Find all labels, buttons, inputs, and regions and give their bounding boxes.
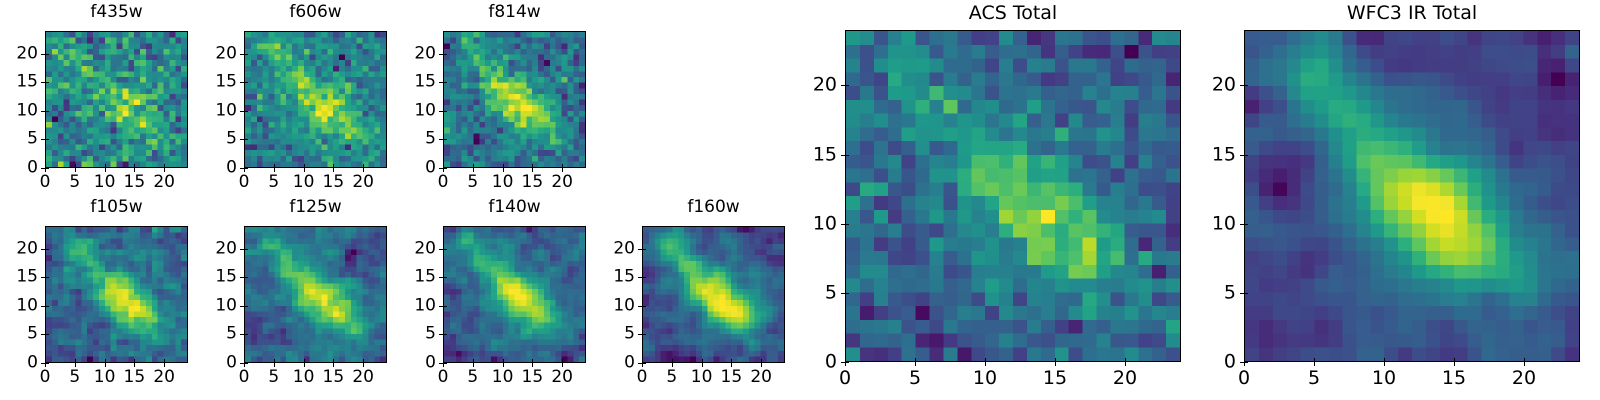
y-tick-mark-inner — [444, 168, 447, 169]
x-tick-label: 5 — [268, 174, 279, 191]
x-tick-label: 15 — [323, 174, 345, 191]
panel-title-acs-total: ACS Total — [845, 4, 1181, 23]
x-tick-mark-inner — [1454, 358, 1455, 361]
x-tick-mark-inner — [333, 359, 334, 362]
panel-f435w: f435w 0510152005101520 — [45, 0, 188, 190]
x-tick-label: 15 — [522, 369, 544, 386]
x-tick-mark-inner — [244, 359, 245, 362]
y-tick-mark-inner — [245, 334, 248, 335]
y-tick-mark — [240, 54, 244, 55]
x-tick-mark-inner — [304, 164, 305, 167]
y-tick-mark-inner — [444, 111, 447, 112]
x-tick-label: 10 — [973, 369, 997, 388]
x-tick-label: 5 — [69, 369, 80, 386]
x-tick-mark — [985, 362, 986, 366]
y-tick-mark-inner — [846, 155, 849, 156]
y-tick-mark — [439, 82, 443, 83]
figure-canvas: f435w 0510152005101520 f606w 05101520051… — [0, 0, 1600, 400]
y-tick-mark-inner — [1245, 155, 1248, 156]
x-tick-label: 0 — [40, 174, 51, 191]
y-tick-label: 0 — [825, 353, 837, 372]
panel-title-f606w: f606w — [244, 4, 387, 21]
y-tick-mark-inner — [1245, 362, 1248, 363]
y-tick-label: 15 — [414, 269, 436, 286]
x-tick-mark-inner — [1125, 358, 1126, 361]
x-tick-label: 5 — [909, 369, 921, 388]
x-tick-mark-inner — [164, 359, 165, 362]
x-tick-label: 20 — [153, 369, 175, 386]
heatmap-f814w[interactable] — [443, 31, 586, 168]
x-tick-mark-inner — [915, 358, 916, 361]
y-tick-mark-inner — [46, 111, 49, 112]
y-tick-mark — [439, 306, 443, 307]
panel-title-f160w: f160w — [642, 199, 785, 216]
panel-f105w: f105w 0510152005101520 — [45, 195, 188, 385]
y-tick-mark-inner — [444, 334, 447, 335]
y-tick-mark — [439, 111, 443, 112]
y-tick-mark-inner — [245, 82, 248, 83]
y-tick-mark — [439, 363, 443, 364]
x-tick-label: 5 — [467, 369, 478, 386]
x-tick-label: 10 — [293, 369, 315, 386]
panel-wfc3-ir-total: WFC3 IR Total 0510152005101520 — [1244, 0, 1580, 400]
x-tick-label: 0 — [40, 369, 51, 386]
panel-f140w: f140w 0510152005101520 — [443, 195, 586, 385]
x-tick-label: 15 — [1442, 369, 1466, 388]
y-tick-mark-inner — [444, 139, 447, 140]
y-tick-label: 5 — [425, 131, 436, 148]
y-tick-label: 15 — [16, 269, 38, 286]
x-tick-mark-inner — [845, 358, 846, 361]
x-tick-label: 0 — [438, 174, 449, 191]
y-tick-mark-inner — [46, 363, 49, 364]
panel-title-f814w: f814w — [443, 4, 586, 21]
y-tick-label: 20 — [613, 240, 635, 257]
y-tick-mark — [41, 82, 45, 83]
x-tick-label: 0 — [239, 174, 250, 191]
y-tick-mark — [439, 54, 443, 55]
x-tick-mark-inner — [75, 359, 76, 362]
y-tick-mark-inner — [444, 363, 447, 364]
y-tick-mark-inner — [846, 293, 849, 294]
y-tick-mark — [439, 334, 443, 335]
y-tick-mark — [439, 139, 443, 140]
x-tick-label: 15 — [323, 369, 345, 386]
y-tick-label: 10 — [414, 102, 436, 119]
y-tick-mark — [240, 139, 244, 140]
x-tick-mark-inner — [1384, 358, 1385, 361]
y-tick-mark — [41, 54, 45, 55]
x-tick-label: 15 — [124, 174, 146, 191]
y-tick-mark-inner — [46, 54, 49, 55]
panel-title-f140w: f140w — [443, 199, 586, 216]
y-tick-label: 5 — [624, 326, 635, 343]
y-tick-mark-inner — [643, 334, 646, 335]
y-tick-mark — [638, 306, 642, 307]
heatmap-f606w[interactable] — [244, 31, 387, 168]
x-tick-mark-inner — [304, 359, 305, 362]
y-tick-mark-inner — [245, 139, 248, 140]
y-tick-mark — [240, 249, 244, 250]
y-tick-mark — [240, 334, 244, 335]
y-tick-label: 20 — [813, 76, 837, 95]
x-tick-mark-inner — [443, 359, 444, 362]
y-tick-mark — [841, 293, 845, 294]
y-tick-label: 15 — [414, 74, 436, 91]
x-tick-mark-inner — [642, 359, 643, 362]
x-tick-label: 20 — [750, 369, 772, 386]
x-tick-mark-inner — [443, 164, 444, 167]
y-tick-mark-inner — [46, 334, 49, 335]
x-tick-label: 0 — [1238, 369, 1250, 388]
x-tick-label: 20 — [1512, 369, 1536, 388]
y-tick-mark-inner — [245, 306, 248, 307]
y-tick-label: 20 — [215, 240, 237, 257]
y-tick-mark-inner — [46, 277, 49, 278]
y-tick-mark-inner — [245, 111, 248, 112]
y-tick-label: 15 — [1212, 145, 1236, 164]
x-tick-mark-inner — [562, 164, 563, 167]
y-tick-label: 20 — [414, 45, 436, 62]
y-tick-mark — [41, 334, 45, 335]
y-tick-label: 20 — [215, 45, 237, 62]
y-tick-label: 20 — [1212, 76, 1236, 95]
x-tick-mark-inner — [274, 359, 275, 362]
x-tick-label: 10 — [492, 174, 514, 191]
y-tick-mark — [240, 168, 244, 169]
y-tick-mark-inner — [1245, 85, 1248, 86]
x-tick-mark-inner — [702, 359, 703, 362]
y-tick-mark-inner — [1245, 293, 1248, 294]
y-tick-mark — [841, 362, 845, 363]
x-tick-mark-inner — [562, 359, 563, 362]
panel-f606w: f606w 0510152005101520 — [244, 0, 387, 190]
x-tick-mark — [1055, 362, 1056, 366]
y-tick-mark-inner — [643, 277, 646, 278]
y-tick-label: 10 — [16, 102, 38, 119]
y-tick-mark — [439, 168, 443, 169]
x-tick-mark-inner — [672, 359, 673, 362]
y-tick-label: 0 — [425, 355, 436, 372]
x-tick-mark-inner — [503, 164, 504, 167]
y-tick-mark — [240, 82, 244, 83]
x-tick-label: 10 — [492, 369, 514, 386]
y-tick-mark — [638, 334, 642, 335]
y-tick-label: 5 — [226, 131, 237, 148]
x-tick-mark-inner — [333, 164, 334, 167]
panel-title-f435w: f435w — [45, 4, 188, 21]
y-tick-label: 10 — [215, 297, 237, 314]
x-tick-mark-inner — [45, 359, 46, 362]
x-tick-mark-inner — [532, 164, 533, 167]
x-tick-label: 0 — [637, 369, 648, 386]
y-tick-mark — [41, 168, 45, 169]
y-tick-label: 15 — [215, 74, 237, 91]
x-tick-mark-inner — [244, 164, 245, 167]
y-tick-mark — [1240, 155, 1244, 156]
x-tick-mark-inner — [363, 164, 364, 167]
y-tick-label: 10 — [414, 297, 436, 314]
x-tick-mark — [915, 362, 916, 366]
x-tick-mark-inner — [105, 164, 106, 167]
x-tick-mark-inner — [134, 164, 135, 167]
x-tick-label: 10 — [94, 369, 116, 386]
y-tick-label: 5 — [825, 283, 837, 302]
y-tick-label: 20 — [16, 240, 38, 257]
x-tick-mark — [1314, 362, 1315, 366]
y-tick-mark — [841, 85, 845, 86]
x-tick-mark-inner — [473, 164, 474, 167]
x-tick-mark-inner — [761, 359, 762, 362]
y-tick-mark-inner — [444, 82, 447, 83]
y-tick-mark — [638, 363, 642, 364]
heatmap-acs-total[interactable] — [845, 30, 1181, 362]
x-tick-label: 5 — [467, 174, 478, 191]
x-tick-mark-inner — [532, 359, 533, 362]
panel-title-wfc3-ir-total: WFC3 IR Total — [1244, 4, 1580, 23]
heatmap-wfc3-ir-total[interactable] — [1244, 30, 1580, 362]
x-tick-label: 5 — [666, 369, 677, 386]
x-tick-label: 10 — [94, 174, 116, 191]
x-tick-label: 5 — [1308, 369, 1320, 388]
y-tick-label: 10 — [813, 214, 837, 233]
y-tick-label: 10 — [1212, 214, 1236, 233]
y-tick-label: 20 — [16, 45, 38, 62]
x-tick-mark — [1125, 362, 1126, 366]
x-tick-label: 5 — [69, 174, 80, 191]
y-tick-mark — [240, 111, 244, 112]
y-tick-mark-inner — [444, 306, 447, 307]
y-tick-mark-inner — [46, 168, 49, 169]
panel-acs-total: ACS Total 0510152005101520 — [845, 0, 1181, 400]
x-tick-label: 20 — [1113, 369, 1137, 388]
x-tick-mark-inner — [473, 359, 474, 362]
y-tick-label: 15 — [16, 74, 38, 91]
y-tick-label: 5 — [226, 326, 237, 343]
y-tick-mark — [841, 224, 845, 225]
y-tick-label: 0 — [226, 160, 237, 177]
x-tick-mark-inner — [45, 164, 46, 167]
y-tick-mark — [439, 277, 443, 278]
x-tick-label: 15 — [1043, 369, 1067, 388]
x-tick-mark-inner — [363, 359, 364, 362]
panel-title-f125w: f125w — [244, 199, 387, 216]
y-tick-mark — [638, 277, 642, 278]
y-tick-mark — [41, 306, 45, 307]
y-tick-label: 10 — [16, 297, 38, 314]
y-tick-mark-inner — [643, 363, 646, 364]
x-tick-label: 20 — [352, 369, 374, 386]
y-tick-mark-inner — [444, 54, 447, 55]
y-tick-mark-inner — [444, 249, 447, 250]
panel-f814w: f814w 0510152005101520 — [443, 0, 586, 190]
y-tick-mark — [240, 363, 244, 364]
y-tick-label: 0 — [27, 355, 38, 372]
x-tick-mark-inner — [274, 164, 275, 167]
y-tick-mark-inner — [444, 277, 447, 278]
x-tick-label: 10 — [293, 174, 315, 191]
y-tick-mark-inner — [46, 82, 49, 83]
y-tick-label: 15 — [215, 269, 237, 286]
y-tick-mark-inner — [643, 306, 646, 307]
x-tick-label: 10 — [1372, 369, 1396, 388]
y-tick-mark — [41, 111, 45, 112]
heatmap-f435w[interactable] — [45, 31, 188, 168]
x-tick-label: 10 — [691, 369, 713, 386]
y-tick-mark-inner — [245, 363, 248, 364]
y-tick-mark-inner — [846, 85, 849, 86]
y-tick-label: 5 — [27, 131, 38, 148]
y-tick-mark-inner — [846, 362, 849, 363]
x-tick-label: 15 — [721, 369, 743, 386]
x-tick-label: 15 — [522, 174, 544, 191]
heatmap-f105w[interactable] — [45, 226, 188, 363]
x-tick-label: 20 — [352, 174, 374, 191]
y-tick-mark — [1240, 85, 1244, 86]
y-tick-mark — [1240, 224, 1244, 225]
x-tick-mark-inner — [503, 359, 504, 362]
y-tick-mark — [41, 277, 45, 278]
x-tick-label: 20 — [153, 174, 175, 191]
y-tick-mark — [1240, 293, 1244, 294]
y-tick-mark-inner — [46, 139, 49, 140]
x-tick-mark — [1524, 362, 1525, 366]
y-tick-label: 0 — [425, 160, 436, 177]
heatmap-f160w[interactable] — [642, 226, 785, 363]
x-tick-mark-inner — [1524, 358, 1525, 361]
y-tick-mark — [41, 139, 45, 140]
x-tick-label: 0 — [239, 369, 250, 386]
x-tick-label: 20 — [551, 174, 573, 191]
y-tick-mark-inner — [1245, 224, 1248, 225]
y-tick-mark — [41, 363, 45, 364]
x-tick-mark-inner — [1055, 358, 1056, 361]
y-tick-mark — [439, 249, 443, 250]
y-tick-label: 20 — [414, 240, 436, 257]
y-tick-mark — [240, 306, 244, 307]
panel-title-f105w: f105w — [45, 199, 188, 216]
y-tick-label: 0 — [226, 355, 237, 372]
x-tick-mark — [1384, 362, 1385, 366]
y-tick-label: 15 — [813, 145, 837, 164]
y-tick-label: 5 — [1224, 283, 1236, 302]
y-tick-mark-inner — [846, 224, 849, 225]
y-tick-mark-inner — [245, 249, 248, 250]
y-tick-mark-inner — [643, 249, 646, 250]
y-tick-mark — [1240, 362, 1244, 363]
x-tick-mark-inner — [731, 359, 732, 362]
y-tick-label: 0 — [624, 355, 635, 372]
x-tick-mark-inner — [985, 358, 986, 361]
x-tick-label: 0 — [438, 369, 449, 386]
y-tick-mark-inner — [245, 277, 248, 278]
x-tick-mark-inner — [1314, 358, 1315, 361]
y-tick-mark — [41, 249, 45, 250]
y-tick-label: 10 — [613, 297, 635, 314]
y-tick-label: 10 — [215, 102, 237, 119]
x-tick-mark-inner — [105, 359, 106, 362]
y-tick-label: 0 — [27, 160, 38, 177]
x-tick-mark-inner — [75, 164, 76, 167]
y-tick-label: 15 — [613, 269, 635, 286]
y-tick-mark-inner — [245, 168, 248, 169]
y-tick-label: 5 — [27, 326, 38, 343]
x-tick-mark — [1454, 362, 1455, 366]
y-tick-mark — [638, 249, 642, 250]
y-tick-mark-inner — [245, 54, 248, 55]
x-tick-label: 20 — [551, 369, 573, 386]
x-tick-label: 5 — [268, 369, 279, 386]
x-tick-label: 0 — [839, 369, 851, 388]
y-tick-label: 5 — [425, 326, 436, 343]
heatmap-f125w[interactable] — [244, 226, 387, 363]
x-tick-mark-inner — [164, 164, 165, 167]
x-tick-mark-inner — [134, 359, 135, 362]
panel-f125w: f125w 0510152005101520 — [244, 195, 387, 385]
panel-f160w: f160w 0510152005101520 — [642, 195, 785, 385]
y-tick-mark — [841, 155, 845, 156]
y-tick-mark — [240, 277, 244, 278]
heatmap-f140w[interactable] — [443, 226, 586, 363]
y-tick-mark-inner — [46, 249, 49, 250]
y-tick-label: 0 — [1224, 353, 1236, 372]
x-tick-mark-inner — [1244, 358, 1245, 361]
x-tick-label: 15 — [124, 369, 146, 386]
y-tick-mark-inner — [46, 306, 49, 307]
